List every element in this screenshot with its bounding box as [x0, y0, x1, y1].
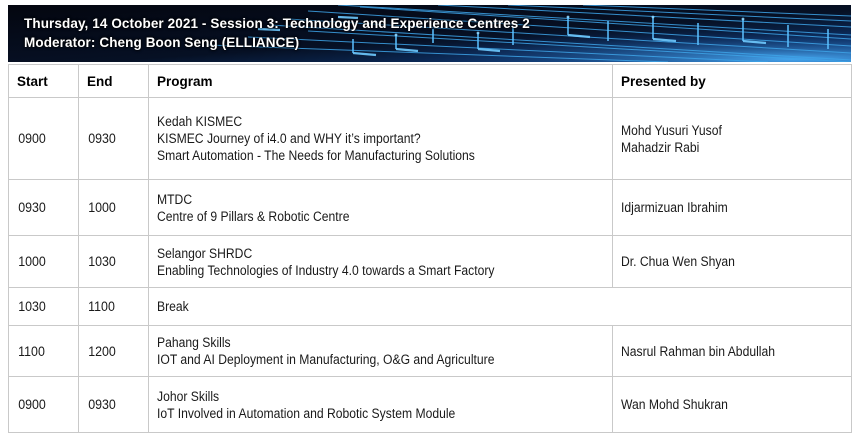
- table-row: 1030 1100 Break: [9, 288, 852, 326]
- schedule-page: Thursday, 14 October 2021 - Session 3: T…: [0, 0, 859, 448]
- cell-end: 1200: [79, 326, 149, 377]
- table-row: 0900 0930 Kedah KISMEC KISMEC Journey of…: [9, 98, 852, 180]
- table-row: 0930 1000 MTDC Centre of 9 Pillars & Rob…: [9, 180, 852, 236]
- column-header-end: End: [79, 65, 149, 98]
- cell-start: 0900: [9, 377, 79, 433]
- table-header-row: Start End Program Presented by: [9, 65, 852, 98]
- cell-program: Kedah KISMEC KISMEC Journey of i4.0 and …: [149, 98, 613, 180]
- cell-end: 1000: [79, 180, 149, 236]
- cell-start: 0930: [9, 180, 79, 236]
- schedule-table: Start End Program Presented by 0900 0930…: [8, 64, 852, 433]
- cell-end: 0930: [79, 98, 149, 180]
- cell-program: Pahang Skills IOT and AI Deployment in M…: [149, 326, 613, 377]
- banner-moderator-line: Moderator: Cheng Boon Seng (ELLIANCE): [24, 33, 530, 52]
- cell-presented-by: Dr. Chua Wen Shyan: [613, 236, 852, 288]
- cell-end: 1100: [79, 288, 149, 326]
- cell-start: 1100: [9, 326, 79, 377]
- banner-title: Thursday, 14 October 2021 - Session 3: T…: [24, 14, 530, 52]
- cell-end: 1030: [79, 236, 149, 288]
- cell-start: 1000: [9, 236, 79, 288]
- cell-presented-by: Idjarmizuan Ibrahim: [613, 180, 852, 236]
- table-row: 1100 1200 Pahang Skills IOT and AI Deplo…: [9, 326, 852, 377]
- column-header-presented-by: Presented by: [613, 65, 852, 98]
- cell-program: Johor Skills IoT Involved in Automation …: [149, 377, 613, 433]
- banner-title-line1: Thursday, 14 October 2021 - Session 3: T…: [24, 14, 530, 33]
- cell-presented-by: Mohd Yusuri Yusof Mahadzir Rabi: [613, 98, 852, 180]
- session-banner: Thursday, 14 October 2021 - Session 3: T…: [8, 5, 851, 62]
- cell-program: Selangor SHRDC Enabling Technologies of …: [149, 236, 613, 288]
- table-row: 0900 0930 Johor Skills IoT Involved in A…: [9, 377, 852, 433]
- cell-start: 1030: [9, 288, 79, 326]
- cell-presented-by: Wan Mohd Shukran: [613, 377, 852, 433]
- cell-end: 0930: [79, 377, 149, 433]
- table-body: 0900 0930 Kedah KISMEC KISMEC Journey of…: [9, 98, 852, 433]
- cell-program-break: Break: [149, 288, 852, 326]
- table-row: 1000 1030 Selangor SHRDC Enabling Techno…: [9, 236, 852, 288]
- cell-start: 0900: [9, 98, 79, 180]
- cell-program: MTDC Centre of 9 Pillars & Robotic Centr…: [149, 180, 613, 236]
- cell-presented-by: Nasrul Rahman bin Abdullah: [613, 326, 852, 377]
- column-header-program: Program: [149, 65, 613, 98]
- column-header-start: Start: [9, 65, 79, 98]
